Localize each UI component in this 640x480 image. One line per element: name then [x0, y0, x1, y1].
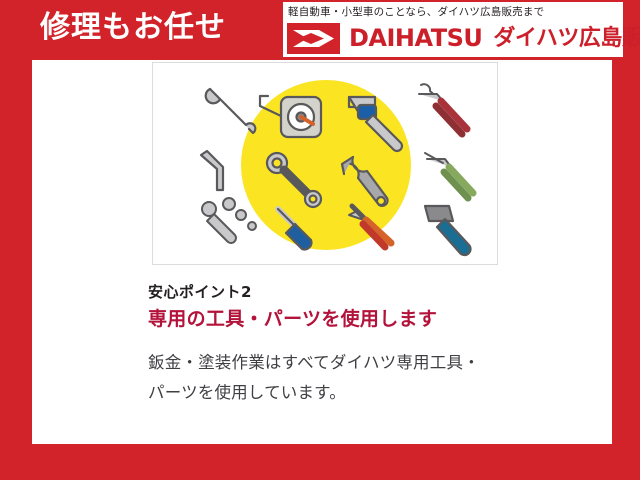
slide-root: 修理もお任せ 軽自動車・小型車のことなら、ダイハツ広島販売まで DAIHATSU… [0, 0, 640, 480]
logo-tagline: 軽自動車・小型車のことなら、ダイハツ広島販売まで [288, 5, 544, 19]
text-block: 安心ポイント2 専用の工具・パーツを使用します 鈑金・塗装作業はすべてダイハツ専… [148, 282, 508, 408]
logo-brand-latin: DAIHATSU [349, 23, 482, 54]
body-text: 鈑金・塗装作業はすべてダイハツ専用工具・パーツを使用しています。 [148, 348, 493, 408]
daihatsu-emblem-icon [287, 23, 340, 54]
headline: 専用の工具・パーツを使用します [148, 308, 493, 331]
content-panel: 安心ポイント2 専用の工具・パーツを使用します 鈑金・塗装作業はすべてダイハツ専… [32, 60, 612, 444]
logo-brand-japanese: ダイハツ広島販売 [493, 23, 640, 54]
page-title: 修理もお任せ [40, 6, 226, 50]
dealer-logo-block: 軽自動車・小型車のことなら、ダイハツ広島販売まで DAIHATSU ダイハツ広島… [283, 2, 623, 57]
point-label: 安心ポイント2 [148, 282, 508, 302]
tools-illustration [152, 62, 498, 265]
logo-row: DAIHATSU ダイハツ広島販売 [287, 23, 640, 54]
header-banner: 修理もお任せ 軽自動車・小型車のことなら、ダイハツ広島販売まで DAIHATSU… [0, 0, 640, 60]
